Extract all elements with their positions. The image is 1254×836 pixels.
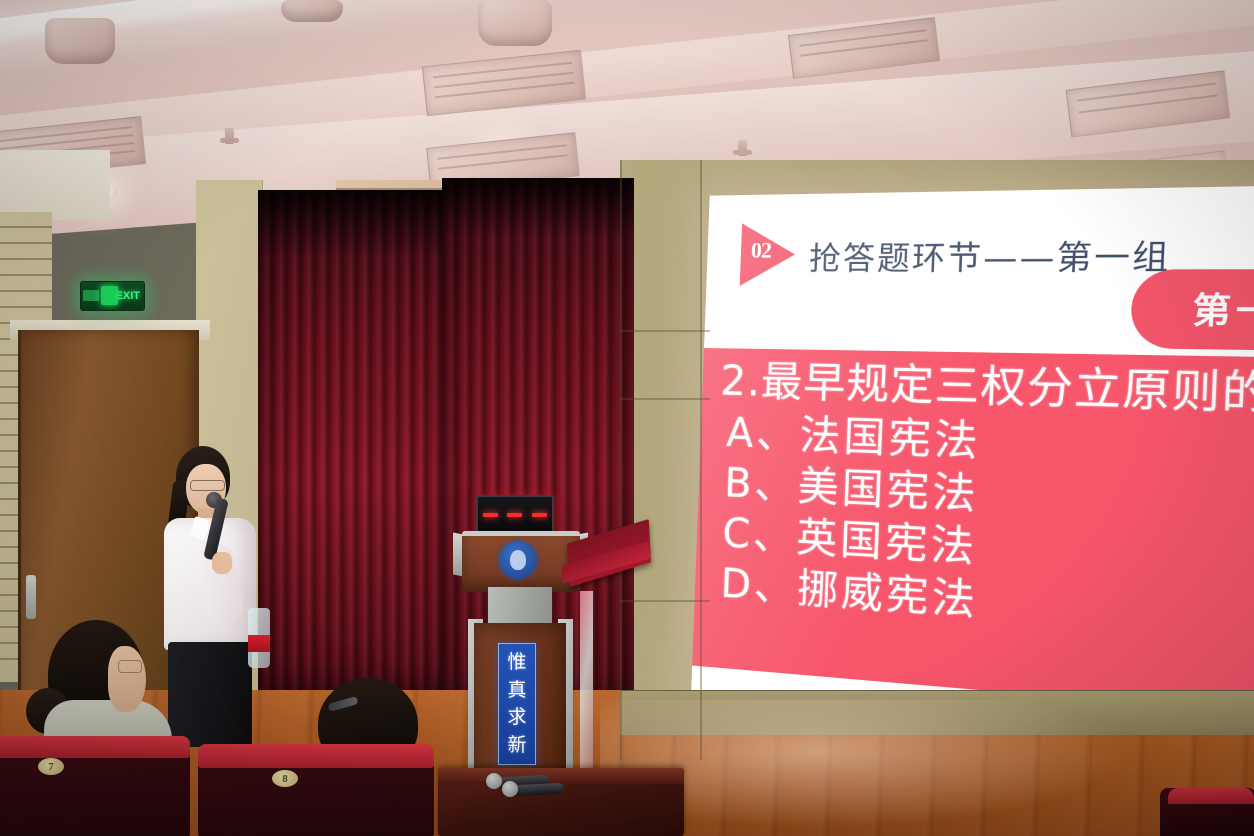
lectern-neck <box>488 587 552 625</box>
door-handle[interactable] <box>26 575 36 619</box>
microphone-head <box>486 773 502 789</box>
water-bottle-label <box>248 635 270 652</box>
motto-char-3: 求 <box>507 708 526 727</box>
front-table-surface <box>438 768 684 784</box>
curtain-top-shadow <box>258 190 458 260</box>
slide-surface: 02 抢答题环节——第一组 第一题 2.最早规定三权分立原则的宪 A、法国宪法 … <box>690 185 1254 775</box>
led-indicator <box>532 513 547 517</box>
glasses-icon <box>118 660 142 673</box>
exit-sign-label: EXIT <box>116 290 144 302</box>
wall-seam <box>620 398 710 400</box>
ceiling-speaker <box>45 18 115 64</box>
microphone-head <box>502 781 518 797</box>
exit-sign-glow-bar <box>83 290 99 301</box>
institution-emblem-icon <box>499 541 537 579</box>
question-text: 2.最早规定三权分立原则的宪 <box>720 360 1254 419</box>
glasses-icon <box>190 480 225 491</box>
option-d-key: D、 <box>720 560 798 612</box>
slide-body: 2.最早规定三权分立原则的宪 A、法国宪法 B、美国宪法 C、英国宪法 D、挪威… <box>692 348 1254 718</box>
option-b-key: B、 <box>724 460 799 510</box>
auditorium-scene: EXIT 02 抢答题环节——第一组 第一题 2.最早规定三权分立原则的宪 A、… <box>0 0 1254 836</box>
question-badge: 第一题 <box>1130 269 1254 352</box>
seat-number-plate: 7 <box>38 758 64 775</box>
section-number: 02 <box>750 237 771 263</box>
lectern: 惟 真 求 新 <box>462 495 662 805</box>
wall-seam <box>700 160 702 760</box>
motto-char-2: 真 <box>507 681 526 700</box>
led-indicator <box>483 513 498 517</box>
option-a-text: 法国宪法 <box>799 412 982 466</box>
ceiling-speaker <box>281 0 343 22</box>
curtain-top-shadow <box>442 178 634 238</box>
lectern-display-panel <box>476 495 554 535</box>
slide-header: 02 抢答题环节——第一组 第一题 <box>704 185 1254 358</box>
chair-headrest <box>1168 788 1254 804</box>
option-c-text: 英国宪法 <box>795 514 978 572</box>
ceiling-speaker <box>478 0 552 46</box>
motto-char-1: 惟 <box>507 653 526 672</box>
presenter <box>140 440 320 740</box>
lectern-motto-plaque: 惟 真 求 新 <box>498 643 536 765</box>
wall-upper-left <box>0 150 110 220</box>
option-c-key: C、 <box>722 510 797 561</box>
presenter-hand <box>212 552 232 574</box>
wall-seam <box>620 330 710 332</box>
running-man-icon <box>101 286 118 305</box>
chair-headrest <box>198 744 434 768</box>
option-a-key: A、 <box>725 410 800 459</box>
section-title: 抢答题环节——第一组 <box>808 230 1172 280</box>
led-indicator <box>507 513 522 517</box>
projection-screen: 02 抢答题环节——第一组 第一题 2.最早规定三权分立原则的宪 A、法国宪法 … <box>690 185 1254 775</box>
option-b-text: 美国宪法 <box>797 463 980 519</box>
presenter-trousers <box>168 642 252 747</box>
audience-face <box>108 646 146 712</box>
seat-number-plate: 8 <box>272 770 298 787</box>
motto-char-4: 新 <box>507 736 526 755</box>
exit-sign: EXIT <box>80 281 145 311</box>
fire-sprinkler <box>738 140 747 156</box>
option-d-text: 挪威宪法 <box>796 565 979 625</box>
chair-headrest <box>0 736 190 758</box>
fire-sprinkler <box>225 128 234 144</box>
